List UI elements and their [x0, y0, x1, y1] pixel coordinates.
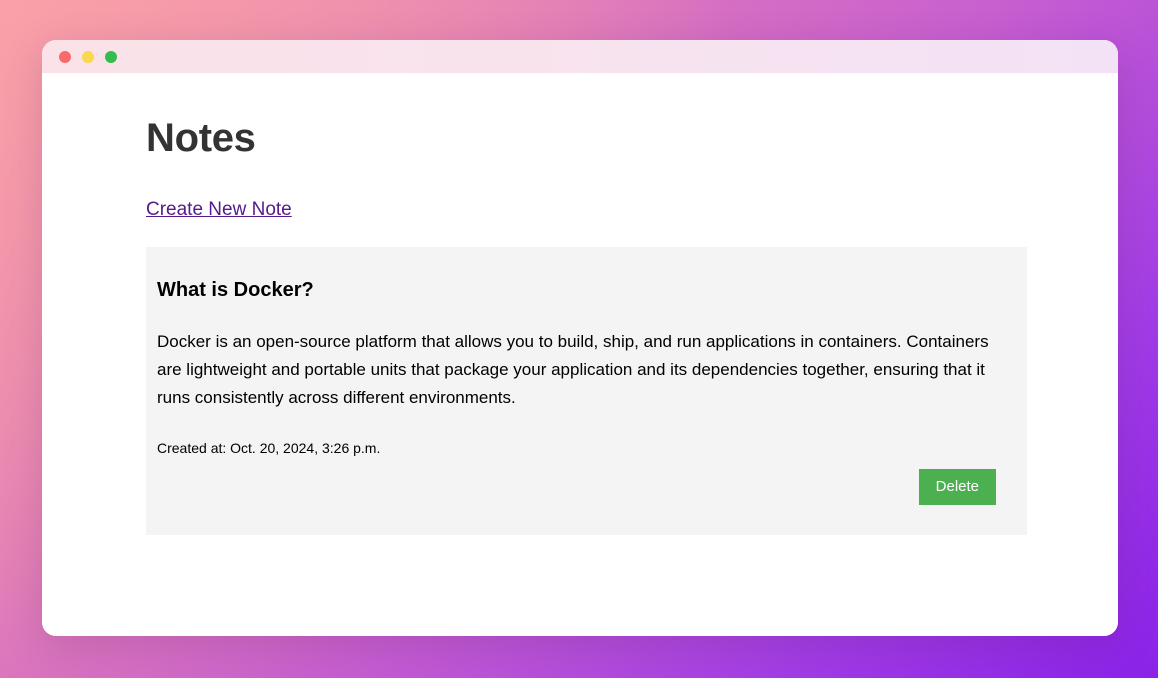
note-body: Docker is an open-source platform that a…: [157, 328, 992, 412]
create-new-note-link[interactable]: Create New Note: [146, 199, 292, 221]
close-window-button[interactable]: [59, 51, 71, 63]
page-content: Notes Create New Note What is Docker? Do…: [42, 73, 1118, 636]
app-window: Notes Create New Note What is Docker? Do…: [42, 40, 1118, 636]
note-actions: Delete: [157, 469, 996, 505]
note-title: What is Docker?: [157, 279, 996, 302]
maximize-window-button[interactable]: [105, 51, 117, 63]
page-title: Notes: [146, 116, 1062, 160]
minimize-window-button[interactable]: [82, 51, 94, 63]
note-created-at: Created at: Oct. 20, 2024, 3:26 p.m.: [157, 440, 996, 456]
window-titlebar: [42, 40, 1118, 73]
delete-note-button[interactable]: Delete: [919, 469, 996, 505]
note-card: What is Docker? Docker is an open-source…: [146, 247, 1027, 535]
